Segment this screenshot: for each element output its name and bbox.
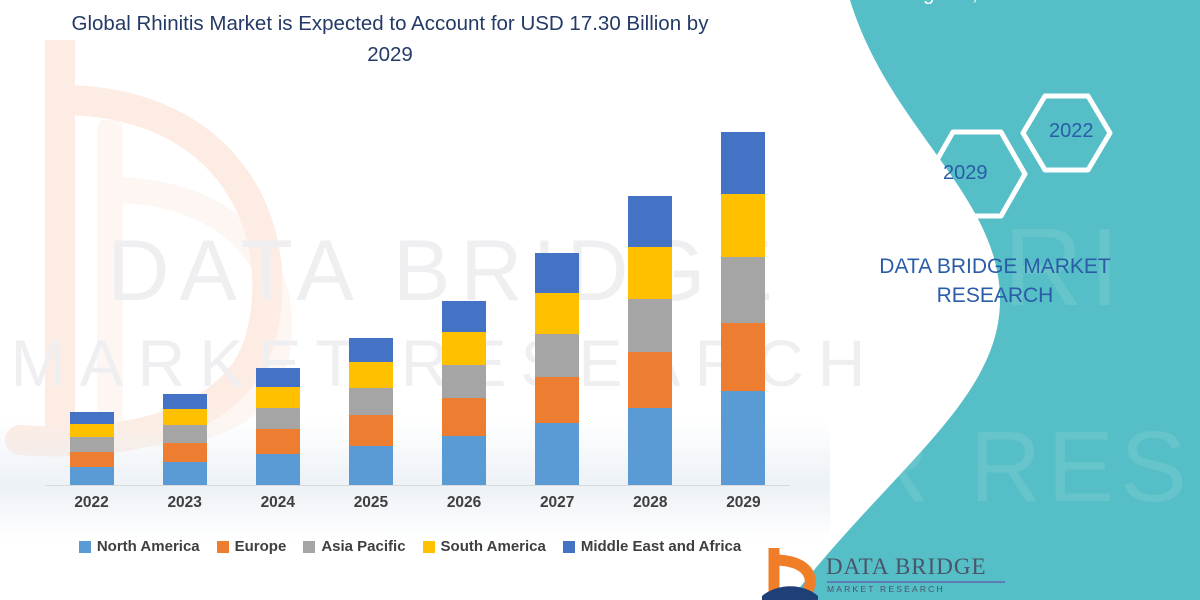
x-axis-label-2022: 2022	[47, 494, 137, 512]
bar-group-2023[interactable]	[140, 394, 230, 485]
bar-segment[interactable]	[535, 423, 579, 485]
brand-logo: DATA BRIDGE MARKET RESEARCH	[760, 548, 1100, 600]
x-axis-label-2028: 2028	[605, 494, 695, 512]
bar-group-2022[interactable]	[47, 412, 137, 485]
bar-segment[interactable]	[70, 424, 114, 437]
bar-segment[interactable]	[70, 452, 114, 468]
bar-segment[interactable]	[256, 454, 300, 485]
infographic-root: DATA BRIDGE MARKET RESEARCH Global Rhini…	[0, 0, 1200, 600]
hexagon-badges: 2022 2029	[905, 92, 1145, 227]
bar-segment[interactable]	[349, 446, 393, 485]
chart-legend: North AmericaEuropeAsia PacificSouth Ame…	[0, 538, 820, 555]
legend-item[interactable]: South America	[423, 538, 546, 555]
bar-segment[interactable]	[535, 377, 579, 423]
bar-segment[interactable]	[442, 398, 486, 435]
bar-group-2024[interactable]	[233, 368, 323, 485]
legend-swatch-icon	[303, 541, 315, 553]
legend-swatch-icon	[217, 541, 229, 553]
x-axis-tick-labels: 20222023202420252026202720282029	[45, 494, 790, 524]
bar-segment[interactable]	[256, 408, 300, 430]
bar-segment[interactable]	[442, 332, 486, 365]
brand-logo-tagline: MARKET RESEARCH	[827, 584, 945, 594]
brand-panel: BRI R RES Regions, 2022 to 2029 2022 202…	[750, 0, 1200, 600]
bar-segment[interactable]	[163, 443, 207, 463]
legend-label: South America	[441, 538, 546, 555]
brand-name-line2: RESEARCH	[937, 284, 1054, 307]
panel-title: Regions, 2022 to 2029	[810, 0, 1190, 9]
brand-logo-mark-icon	[760, 548, 822, 600]
bar-group-2027[interactable]	[512, 253, 602, 485]
bar-segment[interactable]	[163, 462, 207, 485]
legend-label: Asia Pacific	[321, 538, 405, 555]
legend-swatch-icon	[423, 541, 435, 553]
x-axis-label-2023: 2023	[140, 494, 230, 512]
legend-label: North America	[97, 538, 200, 555]
x-axis-label-2027: 2027	[512, 494, 602, 512]
brand-logo-divider	[827, 581, 1005, 583]
bar-segment[interactable]	[628, 408, 672, 485]
bar-segment[interactable]	[349, 362, 393, 388]
bar-segment[interactable]	[535, 334, 579, 376]
legend-label: Europe	[235, 538, 287, 555]
brand-logo-name: DATA BRIDGE	[826, 554, 987, 580]
bar-segment[interactable]	[628, 299, 672, 352]
x-axis-label-2024: 2024	[233, 494, 323, 512]
legend-item[interactable]: North America	[79, 538, 200, 555]
bar-group-2025[interactable]	[326, 338, 416, 485]
bar-segment[interactable]	[628, 196, 672, 247]
legend-swatch-icon	[79, 541, 91, 553]
bar-segment[interactable]	[70, 467, 114, 485]
stacked-bar-plot	[45, 110, 790, 485]
bar-segment[interactable]	[628, 352, 672, 408]
bar-group-2026[interactable]	[419, 301, 509, 485]
x-axis-label-2025: 2025	[326, 494, 416, 512]
bar-segment[interactable]	[163, 394, 207, 409]
bar-segment[interactable]	[442, 301, 486, 333]
brand-name: DATA BRIDGE MARKET RESEARCH	[795, 252, 1195, 310]
bar-segment[interactable]	[349, 388, 393, 415]
bar-segment[interactable]	[70, 437, 114, 451]
bar-segment[interactable]	[349, 415, 393, 446]
legend-item[interactable]: Middle East and Africa	[563, 538, 741, 555]
x-axis-line	[45, 485, 790, 486]
bar-segment[interactable]	[256, 368, 300, 387]
bar-group-2028[interactable]	[605, 196, 695, 485]
legend-swatch-icon	[563, 541, 575, 553]
bar-segment[interactable]	[256, 387, 300, 407]
bar-segment[interactable]	[70, 412, 114, 424]
bar-segment[interactable]	[442, 436, 486, 485]
bar-segment[interactable]	[349, 338, 393, 362]
bar-segment[interactable]	[628, 247, 672, 299]
legend-label: Middle East and Africa	[581, 538, 741, 555]
legend-item[interactable]: Europe	[217, 538, 287, 555]
x-axis-label-2026: 2026	[419, 494, 509, 512]
bar-segment[interactable]	[256, 429, 300, 454]
hexagon-shapes	[905, 92, 1145, 227]
bar-segment[interactable]	[535, 293, 579, 334]
bar-segment[interactable]	[535, 253, 579, 294]
chart-area: 20222023202420252026202720282029	[0, 0, 830, 600]
legend-item[interactable]: Asia Pacific	[303, 538, 405, 555]
bar-segment[interactable]	[442, 365, 486, 398]
bar-segment[interactable]	[163, 409, 207, 425]
bar-segment[interactable]	[163, 425, 207, 442]
brand-name-line1: DATA BRIDGE MARKET	[879, 255, 1110, 278]
